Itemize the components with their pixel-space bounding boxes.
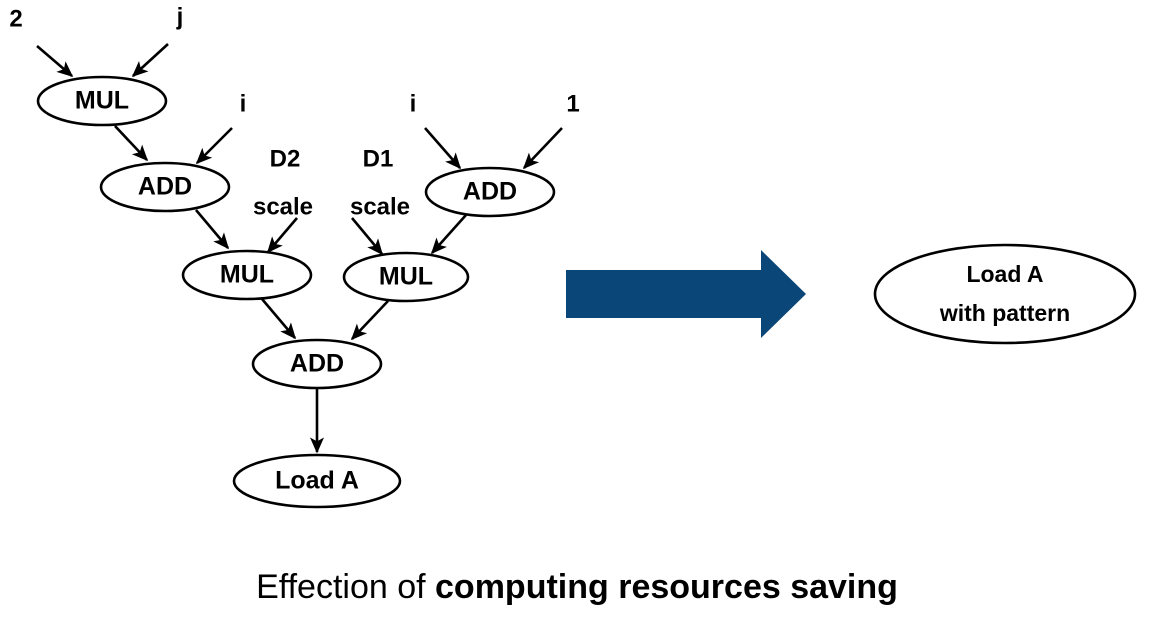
edge-mul-mid-left-to-add-bottom bbox=[262, 299, 295, 338]
node-shape[interactable] bbox=[875, 245, 1135, 343]
edge-2-to-mul-top-left bbox=[37, 46, 72, 76]
d1-scale-line1: D1 bbox=[363, 145, 394, 172]
node-label: Load A bbox=[275, 467, 359, 495]
edge-i-to-add-left bbox=[197, 128, 232, 163]
diagram-canvas: 2 j i i 1 D2 scale D1 scale MUL ADD MUL bbox=[0, 0, 1154, 644]
transform-arrow-shape bbox=[566, 250, 806, 338]
node-label: MUL bbox=[220, 261, 274, 289]
edge-add-left-to-mul-mid-left bbox=[196, 210, 228, 248]
edge-1-to-add-right bbox=[524, 128, 562, 168]
scale-edges bbox=[268, 218, 382, 254]
node-load-a-with-pattern[interactable]: Load A with pattern bbox=[875, 245, 1135, 343]
node-add-bottom[interactable]: ADD bbox=[253, 340, 381, 388]
input-label-i-right: i bbox=[410, 90, 417, 117]
edge-add-right-to-mul-mid-right bbox=[432, 215, 466, 253]
caption-plain-part: Effection of bbox=[256, 568, 435, 606]
node-mul-top-left[interactable]: MUL bbox=[38, 77, 166, 125]
node-add-right[interactable]: ADD bbox=[426, 168, 554, 216]
caption-bold-part: computing resources saving bbox=[435, 568, 898, 606]
node-mul-mid-left[interactable]: MUL bbox=[183, 251, 311, 299]
figure-root: 2 j i i 1 D2 scale D1 scale MUL ADD MUL bbox=[0, 0, 1154, 644]
node-load-a[interactable]: Load A bbox=[234, 455, 400, 507]
d2-scale-line2: scale bbox=[253, 193, 313, 220]
d1-scale-line2: scale bbox=[350, 193, 410, 220]
figure-caption: Effection of computing resources saving bbox=[0, 568, 1154, 607]
edge-j-to-mul-top-left bbox=[133, 44, 168, 76]
node-label: ADD bbox=[463, 178, 517, 206]
edge-d2-scale-to-mul bbox=[268, 218, 297, 252]
input-label-1: 1 bbox=[566, 90, 579, 117]
edge-mul-top-left-to-add-left bbox=[115, 126, 147, 160]
input-label-i-left: i bbox=[240, 90, 247, 117]
input-label-j: j bbox=[176, 3, 184, 30]
node-label-line1: Load A bbox=[966, 261, 1043, 287]
d2-scale-line1: D2 bbox=[270, 145, 301, 172]
node-mul-mid-right[interactable]: MUL bbox=[344, 253, 468, 301]
node-label: MUL bbox=[75, 87, 129, 115]
transform-arrow bbox=[566, 250, 806, 338]
input-label-2: 2 bbox=[9, 5, 22, 32]
scale-labels: D2 scale D1 scale bbox=[253, 145, 410, 220]
edge-i-to-add-right bbox=[425, 128, 460, 168]
node-add-left[interactable]: ADD bbox=[101, 163, 229, 211]
edge-d1-scale-to-mul bbox=[352, 218, 382, 254]
node-label: MUL bbox=[379, 263, 433, 291]
node-label: ADD bbox=[290, 350, 344, 378]
node-label: ADD bbox=[138, 173, 192, 201]
node-label-line2: with pattern bbox=[939, 300, 1070, 326]
edge-mul-mid-right-to-add-bottom bbox=[352, 301, 388, 339]
